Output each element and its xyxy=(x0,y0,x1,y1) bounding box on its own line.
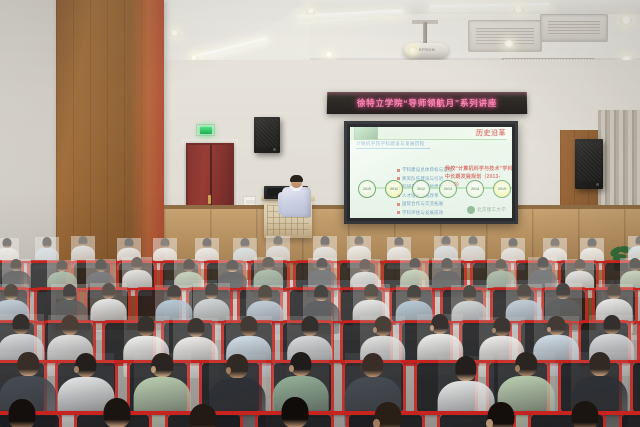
audience-member-ear xyxy=(373,419,379,427)
ceiling-downlight xyxy=(170,30,179,37)
slide-timeline: 201020112012201320142015 xyxy=(354,178,512,196)
ceiling-downlight xyxy=(306,8,315,15)
door-handle[interactable] xyxy=(208,195,211,204)
institution-logo-text: 北京理工大学 xyxy=(477,207,506,213)
projector-lens xyxy=(408,46,417,54)
slide-highlight-line: 我校“计算机科学与技术”学科 xyxy=(445,165,512,173)
audience-member xyxy=(81,398,153,427)
audience-member xyxy=(167,404,239,427)
timeline-year-node: 2010 xyxy=(358,180,376,198)
audience-member-head xyxy=(282,397,309,427)
audience-row xyxy=(0,386,640,427)
ceiling-downlight xyxy=(620,16,632,25)
audience-member-head xyxy=(571,401,598,427)
auditorium-seat[interactable] xyxy=(622,415,640,427)
speaker-indicator xyxy=(596,183,599,186)
institution-logo-mark xyxy=(467,206,475,214)
ceiling-downlight xyxy=(504,40,514,48)
timeline-year-node: 2013 xyxy=(439,180,457,198)
audience-member xyxy=(259,397,331,427)
speaker-indicator xyxy=(273,148,276,151)
ac-vent xyxy=(540,14,608,42)
slide-title: 历史沿革 xyxy=(476,128,506,138)
audience-member xyxy=(0,399,58,427)
lecture-hall-photo: EPSON 徐特立学院“导师领航月”系列讲座 xyxy=(0,0,640,427)
timeline-year-node: 2012 xyxy=(412,180,430,198)
audience-member-head xyxy=(103,398,130,427)
timeline-rail xyxy=(358,187,512,189)
audience-member-head xyxy=(190,404,217,427)
audience-member-head xyxy=(9,399,36,427)
projector-brand-label: EPSON xyxy=(419,47,435,52)
led-banner: 徐特立学院“导师领航月”系列讲座 xyxy=(327,92,528,114)
ceiling-downlight xyxy=(513,6,524,14)
audience-member xyxy=(465,402,537,427)
audience-seating xyxy=(0,228,640,427)
wall-speaker xyxy=(575,139,603,189)
timeline-year-node: 2011 xyxy=(385,180,403,198)
slide-subtitle-underline xyxy=(356,148,430,149)
exit-sign-icon xyxy=(196,124,215,136)
audience-member-ear xyxy=(486,419,492,427)
presenter-body xyxy=(282,187,311,217)
timeline-year-node: 2014 xyxy=(466,180,484,198)
speaker-grille xyxy=(256,119,279,147)
projector: EPSON xyxy=(404,43,448,58)
banner-text: 徐特立学院“导师领航月”系列讲座 xyxy=(327,97,527,109)
exit-sign-glow xyxy=(200,127,212,134)
audience-member xyxy=(352,402,424,427)
speaker-grille xyxy=(577,142,602,181)
timeline-year-node: 2015 xyxy=(493,180,511,198)
slide-title-underline xyxy=(356,139,507,140)
ceiling-downlight xyxy=(325,52,333,58)
presentation-slide: 历史沿革 计算机学院学科建设与发展历程 学科建设总体目标与定位师资队伍建设与引进… xyxy=(350,127,512,218)
slide-subtitle: 计算机学院学科建设与发展历程 xyxy=(356,141,425,147)
projector-mount-arm xyxy=(423,22,427,44)
projection-screen: 历史沿革 计算机学院学科建设与发展历程 学科建设总体目标与定位师资队伍建设与引进… xyxy=(344,121,518,224)
institution-logo: 北京理工大学 xyxy=(467,206,506,214)
audience-member xyxy=(549,401,621,427)
presenter-hair xyxy=(290,175,303,182)
wall-speaker xyxy=(254,117,280,153)
